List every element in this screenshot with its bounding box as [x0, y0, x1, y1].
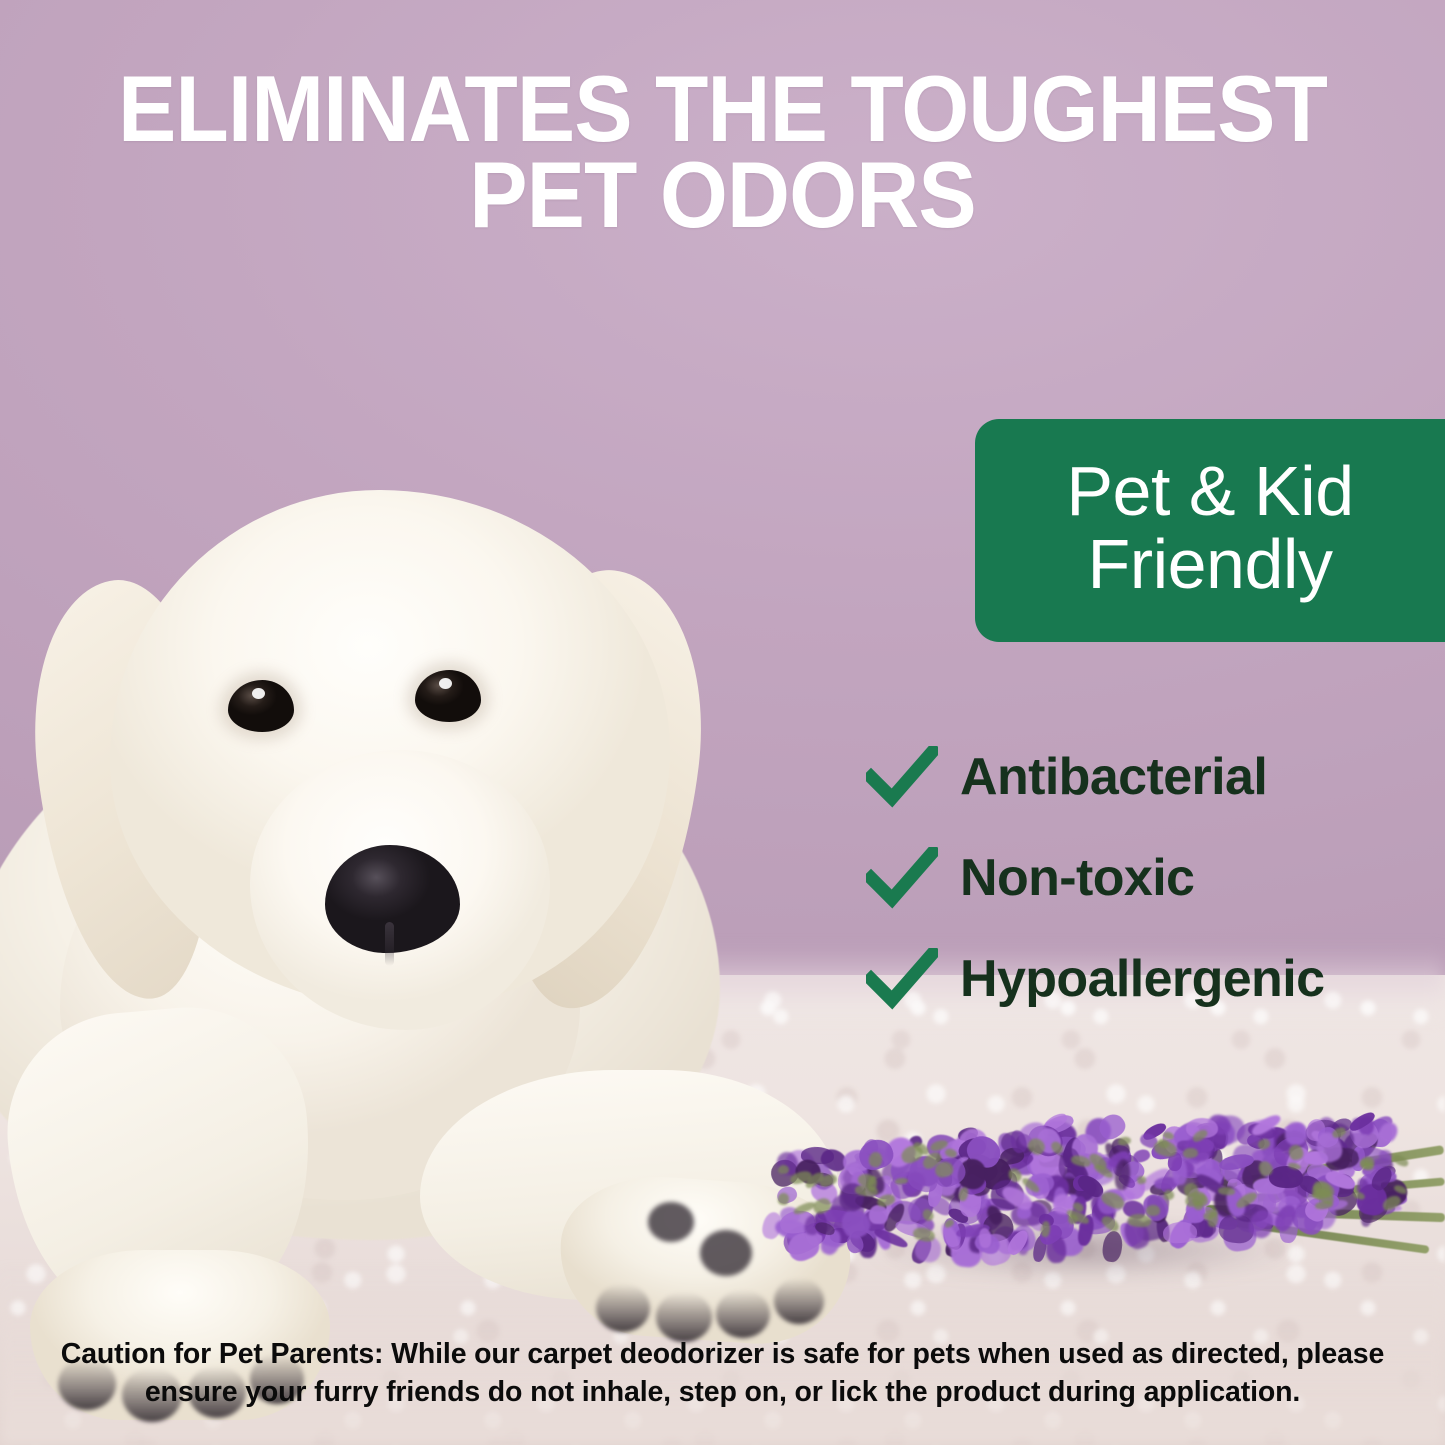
lavender-calyx	[778, 1165, 789, 1174]
lavender-calyx	[1118, 1136, 1132, 1146]
benefit-label: Hypoallergenic	[960, 949, 1324, 1009]
check-icon	[866, 847, 938, 909]
benefit-item-non-toxic: Non-toxic	[866, 827, 1445, 928]
lavender-calyx	[1136, 1175, 1146, 1184]
caption-line-1: Caution for Pet Parents: While our carpe…	[61, 1338, 1289, 1370]
lavender-calyx	[1146, 1205, 1160, 1216]
check-icon	[866, 948, 938, 1010]
badge-text: Pet & Kid Friendly	[1052, 455, 1367, 607]
benefit-label: Non-toxic	[960, 848, 1194, 908]
lavender-bunch	[745, 1075, 1445, 1305]
headline-line-2: PET ODORS	[51, 152, 1395, 238]
benefit-label: Antibacterial	[960, 747, 1267, 807]
puppy-toe	[596, 1284, 650, 1332]
puppy-nose-split	[385, 922, 394, 966]
puppy-photo	[0, 250, 920, 1180]
benefit-item-hypoallergenic: Hypoallergenic	[866, 928, 1445, 1029]
product-marketing-image: ELIMINATES THE TOUGHEST PET ODORS Pet & …	[0, 0, 1445, 1445]
lavender-floret	[1131, 1147, 1150, 1164]
lavender-calyx	[1127, 1214, 1151, 1228]
badge-line-1: Pet & Kid	[1066, 452, 1353, 530]
lavender-floret	[1284, 1122, 1306, 1145]
puppy-paw-pad	[648, 1202, 694, 1242]
benefit-item-antibacterial: Antibacterial	[866, 726, 1445, 827]
puppy-toe	[656, 1292, 712, 1342]
check-icon	[866, 746, 938, 808]
badge-line-2: Friendly	[1088, 525, 1333, 603]
caution-caption: Caution for Pet Parents: While our carpe…	[0, 1336, 1445, 1412]
puppy-eye-glint-left	[252, 688, 265, 699]
pet-kid-friendly-badge: Pet & Kid Friendly	[975, 419, 1445, 642]
page-title: ELIMINATES THE TOUGHEST PET ODORS	[51, 66, 1395, 239]
lavender-floret	[869, 1204, 888, 1223]
benefits-list: Antibacterial Non-toxic Hypoallergenic	[866, 726, 1445, 1029]
puppy-eye-glint-right	[439, 678, 452, 689]
